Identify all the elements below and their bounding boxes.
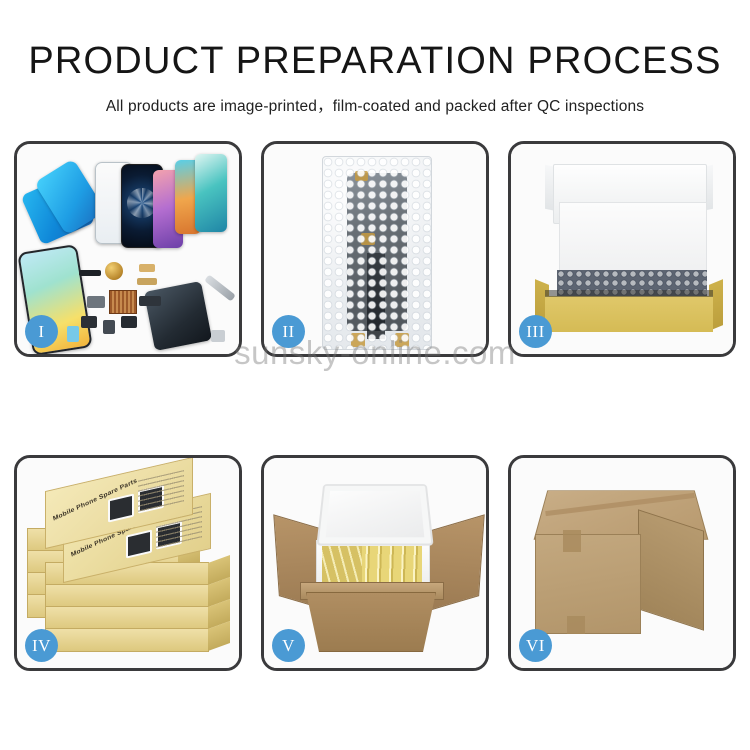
carton-tape [567,616,585,634]
bubble-wrap-bag [322,156,432,350]
carton-side-face [638,509,704,630]
stacked-box [45,606,209,630]
teal-gradient-phone [195,154,227,232]
spare-part [103,320,115,334]
spare-part [67,326,79,342]
step-badge-6: VI [519,629,552,662]
page-title: PRODUCT PREPARATION PROCESS [0,0,750,82]
spare-part [79,270,101,276]
styrofoam-lid [316,484,433,545]
carton-tape [563,530,581,552]
circuit-board-chip [109,290,137,314]
tweezers-tool [204,274,236,301]
page-subtitle: All products are image-printed，film-coat… [0,82,750,116]
process-step-panel-6[interactable]: VI [508,455,736,671]
phone-back-housing [144,281,212,351]
box-artwork-screen [108,494,134,523]
step-badge-4: IV [25,629,58,662]
flex-cable [139,264,155,272]
speaker-module [105,262,123,280]
process-step-panel-1[interactable]: I [14,141,242,357]
packed-yellow-boxes-left [322,546,362,584]
step-badge-3: III [519,315,552,348]
process-step-grid: I II III [14,141,736,674]
white-foam-sheet [559,202,707,274]
carton-front [306,592,436,652]
spare-part [139,296,161,306]
process-step-panel-2[interactable]: II [261,141,489,357]
process-step-panel-4[interactable]: Mobile Phone Spare Parts Mobile Phone Sp… [14,455,242,671]
stacked-box [45,584,209,608]
screw-set [211,330,225,342]
stacked-box [45,628,209,652]
carton-front-face [535,534,641,634]
box-spec-lines [138,470,184,513]
flex-cable [137,278,157,285]
page-header: PRODUCT PREPARATION PROCESS All products… [0,0,750,116]
step-badge-2: II [272,315,305,348]
process-step-panel-5[interactable]: V [261,455,489,671]
step-badge-5: V [272,629,305,662]
spare-part [81,316,97,328]
step-badge-1: I [25,315,58,348]
yellow-box-front [545,296,713,332]
bubble-texture [323,157,431,349]
process-step-panel-3[interactable]: III [508,141,736,357]
spare-part [87,296,105,308]
spare-part [121,316,137,328]
box-artwork-screen [126,530,152,559]
